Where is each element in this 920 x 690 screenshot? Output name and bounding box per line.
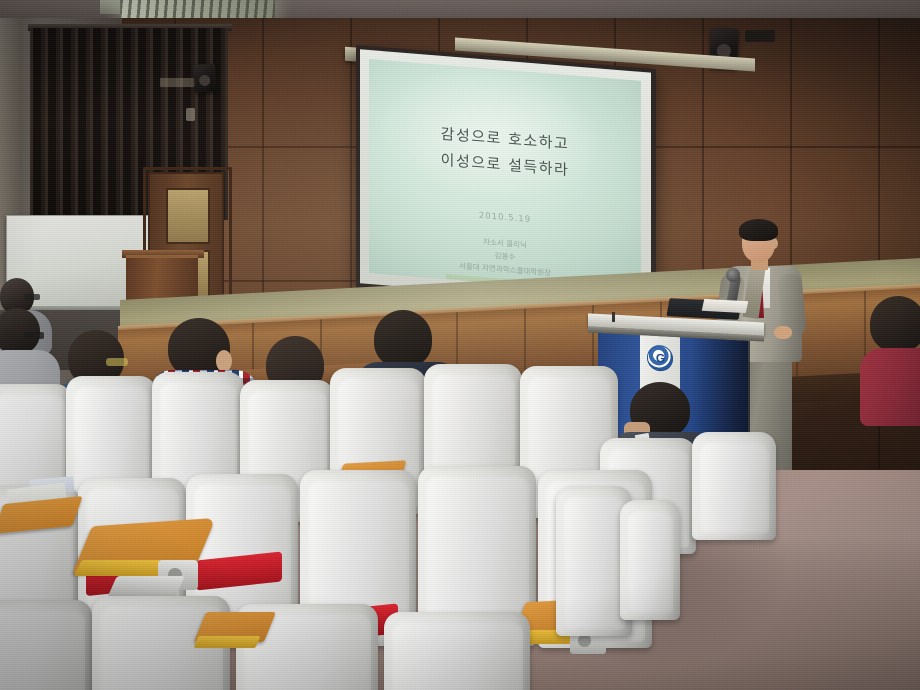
wall-hook (186, 108, 195, 121)
speaker-cone (199, 75, 211, 87)
lecture-hall-photo: 감성으로 호소하고 이성으로 설득하라 2010.5.19 자소서 클리닉 김봉… (0, 0, 920, 690)
eyeglasses-icon (24, 332, 44, 339)
projector-mount (745, 30, 775, 42)
screen-surface: 감성으로 호소하고 이성으로 설득하라 2010.5.19 자소서 클리닉 김봉… (369, 59, 641, 295)
seat-back-inner (563, 495, 625, 630)
tablet-arm-support (107, 576, 185, 598)
seat-back-inner (0, 609, 85, 690)
university-crest-icon: G (647, 344, 673, 371)
eyeglasses-icon (24, 294, 40, 300)
seat-back-inner (627, 509, 673, 614)
attendee-top (860, 348, 920, 426)
attendee-ear (216, 350, 232, 372)
projection-screen: 감성으로 호소하고 이성으로 설득하라 2010.5.19 자소서 클리닉 김봉… (356, 45, 656, 312)
podium-mic-stand (612, 312, 615, 322)
door-glass-panel-upper (166, 188, 210, 244)
microphone-head (726, 268, 740, 282)
presenter-right-hand (774, 326, 792, 339)
papers-on-podium (702, 299, 749, 313)
seat-back[interactable] (692, 432, 776, 540)
eyeglasses-icon (106, 358, 128, 366)
crest-letter: G (655, 351, 666, 366)
presenter-hair (739, 219, 778, 241)
seat-back[interactable] (384, 612, 530, 690)
attendee-hair (870, 296, 920, 352)
seat-back-inner (699, 441, 769, 534)
seat-back-inner (391, 621, 523, 690)
attendee-hair (374, 310, 432, 368)
tablet-arm-edge (194, 636, 261, 648)
seat-back[interactable] (620, 500, 680, 620)
attendee-far-right-edge (868, 296, 920, 426)
screen-frame: 감성으로 호소하고 이성으로 설득하라 2010.5.19 자소서 클리닉 김봉… (360, 49, 651, 306)
wall-speaker-left-icon (193, 63, 217, 92)
seat-back[interactable] (0, 600, 92, 690)
attendee-hair (0, 308, 40, 354)
